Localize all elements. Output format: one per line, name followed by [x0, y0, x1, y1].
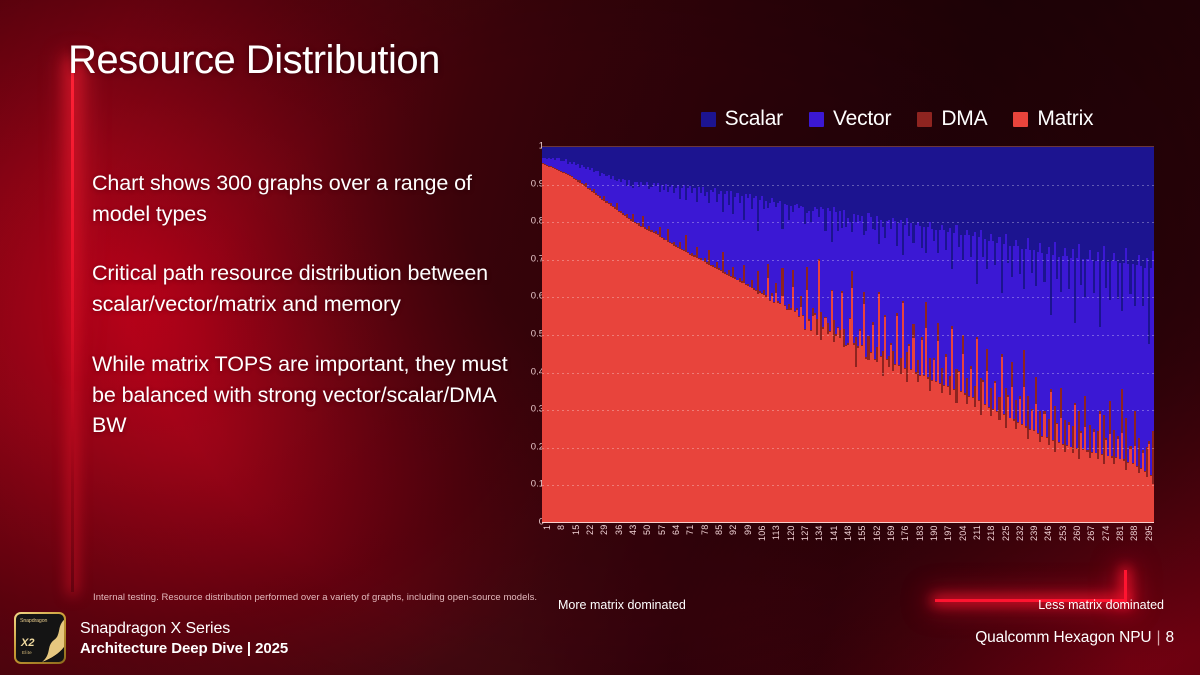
legend-item-vector: Vector — [809, 107, 891, 131]
legend-item-dma: DMA — [917, 107, 987, 131]
plot-area — [542, 146, 1154, 523]
legend-item-matrix: Matrix — [1013, 107, 1093, 131]
y-axis-tick-label: 0.8 — [512, 216, 544, 227]
y-axis: 10.90.80.70.60.50.40.30.20.10 — [512, 146, 544, 522]
y-axis-tick-label: 0 — [512, 517, 544, 528]
stacked-bars — [542, 147, 1154, 523]
footer-right: Qualcomm Hexagon NPU|8 — [975, 629, 1174, 647]
y-axis-tick-label: 1 — [512, 141, 544, 152]
legend-swatch-scalar — [701, 112, 716, 127]
y-axis-tick-label: 0.5 — [512, 329, 544, 340]
legend-swatch-dma — [917, 112, 932, 127]
legend-label-dma: DMA — [941, 107, 987, 131]
annotation-less-matrix-dominated: Less matrix dominated — [1038, 598, 1164, 612]
bullet-item: Chart shows 300 graphs over a range of m… — [92, 168, 512, 229]
footnote: Internal testing. Resource distribution … — [93, 592, 537, 603]
logo-model-text: X2 — [21, 638, 34, 649]
y-axis-tick-label: 0.4 — [512, 366, 544, 377]
page-number: 8 — [1165, 629, 1174, 646]
y-axis-tick-label: 0.2 — [512, 441, 544, 452]
snapdragon-logo-inner: Snapdragon X2 Elite — [16, 614, 64, 662]
footer-separator: | — [1157, 629, 1161, 646]
legend-item-scalar: Scalar — [701, 107, 783, 131]
legend-label-vector: Vector — [833, 107, 891, 131]
page-title: Resource Distribution — [68, 38, 440, 82]
y-axis-tick-label: 0.9 — [512, 178, 544, 189]
plot-wrapper: 10.90.80.70.60.50.40.30.20.10 1815222936… — [512, 146, 1172, 526]
y-axis-tick-label: 0.3 — [512, 404, 544, 415]
footer-product-name: Snapdragon X Series — [80, 620, 288, 638]
footer-right-label: Qualcomm Hexagon NPU — [975, 629, 1151, 646]
logo-tier-text: Elite — [22, 650, 32, 655]
bullet-item: While matrix TOPS are important, they mu… — [92, 349, 512, 441]
axis-annotations: More matrix dominated Less matrix domina… — [542, 598, 1172, 618]
bullet-item: Critical path resource distribution betw… — [92, 258, 512, 319]
y-axis-tick-label: 0.7 — [512, 253, 544, 264]
left-accent-glow — [62, 55, 88, 385]
chart-legend: Scalar Vector DMA Matrix — [512, 100, 1172, 138]
resource-distribution-chart: Scalar Vector DMA Matrix 10.90.80.70.60.… — [512, 100, 1172, 580]
legend-swatch-vector — [809, 112, 824, 127]
footer-subtitle: Architecture Deep Dive | 2025 — [80, 640, 288, 657]
y-axis-tick-label: 0.6 — [512, 291, 544, 302]
legend-label-scalar: Scalar — [725, 107, 783, 131]
x-axis-tick-label — [1154, 525, 1156, 559]
footer-text-block: Snapdragon X Series Architecture Deep Di… — [80, 620, 288, 657]
footer-left: Snapdragon X2 Elite Snapdragon X Series … — [14, 612, 288, 664]
left-accent-line — [71, 62, 74, 592]
legend-label-matrix: Matrix — [1037, 107, 1093, 131]
y-axis-tick-label: 0.1 — [512, 479, 544, 490]
x-axis-line — [542, 522, 1154, 523]
snapdragon-logo: Snapdragon X2 Elite — [14, 612, 66, 664]
x-axis: 1815222936435057647178859299106113120127… — [542, 525, 1154, 559]
annotation-more-matrix-dominated: More matrix dominated — [558, 598, 686, 612]
dragon-swoosh-icon — [36, 616, 64, 662]
bullet-list: Chart shows 300 graphs over a range of m… — [92, 168, 512, 441]
legend-swatch-matrix — [1013, 112, 1028, 127]
